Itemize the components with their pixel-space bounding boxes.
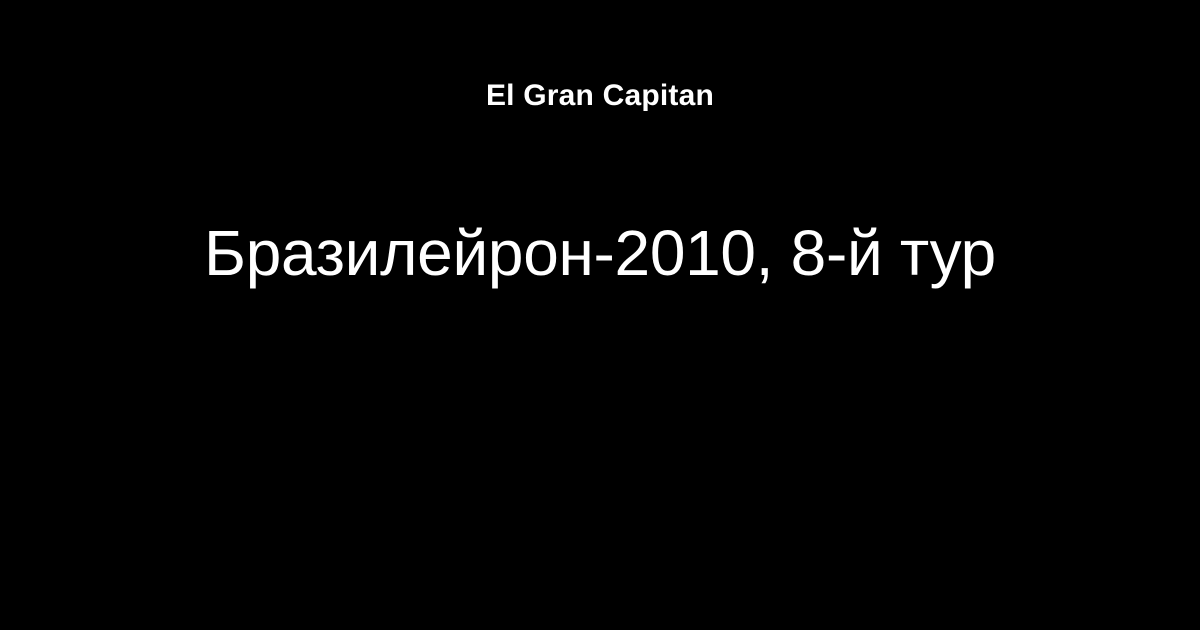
headline-row: Бразилейрон-2010, 8-й тур (0, 240, 1200, 340)
page-title: Бразилейрон-2010, 8-й тур (204, 221, 996, 285)
share-card: El Gran Capitan Бразилейрон-2010, 8-й ту… (0, 0, 1200, 630)
site-name: El Gran Capitan (486, 81, 714, 111)
site-name-row: El Gran Capitan (0, 0, 1200, 125)
